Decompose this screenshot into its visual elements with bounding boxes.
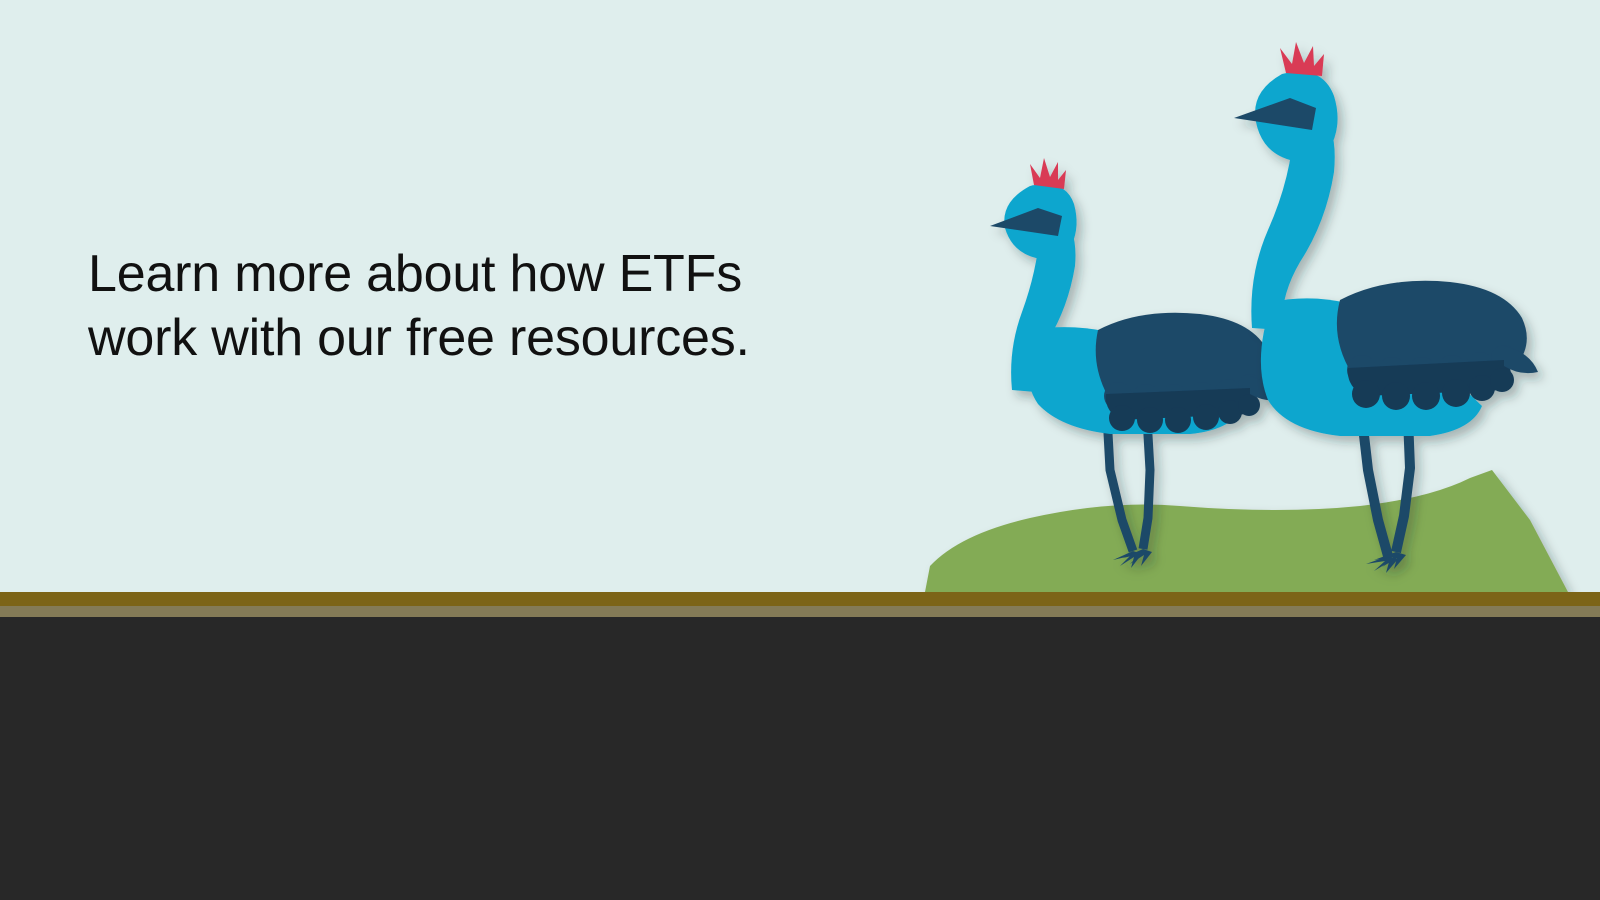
hero-illustration-area: Learn more about how ETFs work with our … — [0, 0, 1600, 592]
ground-strip-dark — [0, 592, 1600, 606]
page-title: Learn more about how ETFs work with our … — [88, 243, 888, 371]
promo-banner: Learn more about how ETFs work with our … — [0, 0, 1600, 900]
footer-bar: OSC O N T A R I O S E C U R I T I E S C … — [0, 617, 1600, 900]
ground-strip-light — [0, 606, 1600, 617]
